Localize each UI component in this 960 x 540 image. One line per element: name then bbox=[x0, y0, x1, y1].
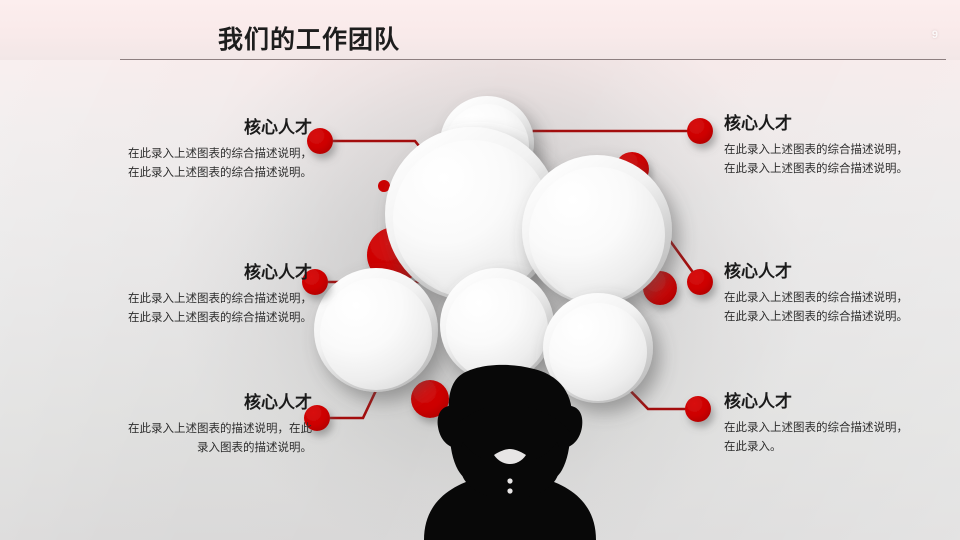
callout-right-middle[interactable]: 核心人才 在此录入上述图表的综合描述说明，在此录入上述图表的综合描述说明。 bbox=[724, 262, 936, 327]
white-circle-lower-left bbox=[314, 268, 438, 392]
slide-canvas: 我们的工作团队 9 bbox=[0, 0, 960, 540]
callout-body: 在此录入上述图表的综合描述说明，在此录入上述图表的综合描述说明。 bbox=[724, 141, 914, 178]
callout-heading: 核心人才 bbox=[100, 118, 312, 138]
callout-body: 在此录入上述图表的描述说明，在此录入图表的描述说明。 bbox=[122, 420, 312, 457]
callout-heading: 核心人才 bbox=[724, 262, 936, 282]
callout-body: 在此录入上述图表的综合描述说明，在此录入上述图表的综合描述说明。 bbox=[122, 145, 312, 182]
callout-body: 在此录入上述图表的综合描述说明，在此录入。 bbox=[724, 419, 914, 456]
red-accent-dot-small-1 bbox=[378, 180, 390, 192]
callout-left-top[interactable]: 核心人才 在此录入上述图表的综合描述说明，在此录入上述图表的综合描述说明。 bbox=[100, 118, 312, 183]
connector-dot-right-middle bbox=[687, 269, 713, 295]
white-circle-right bbox=[522, 155, 672, 305]
callout-left-middle[interactable]: 核心人才 在此录入上述图表的综合描述说明，在此录入上述图表的综合描述说明。 bbox=[100, 263, 312, 328]
callout-body: 在此录入上述图表的综合描述说明，在此录入上述图表的综合描述说明。 bbox=[122, 290, 312, 327]
callout-heading: 核心人才 bbox=[100, 393, 312, 413]
callout-right-bottom[interactable]: 核心人才 在此录入上述图表的综合描述说明，在此录入。 bbox=[724, 392, 936, 457]
connector-dot-right-top bbox=[687, 118, 713, 144]
callout-left-bottom[interactable]: 核心人才 在此录入上述图表的描述说明，在此录入图表的描述说明。 bbox=[100, 393, 312, 458]
callout-right-top[interactable]: 核心人才 在此录入上述图表的综合描述说明，在此录入上述图表的综合描述说明。 bbox=[724, 114, 936, 179]
white-circle-lower-center bbox=[440, 268, 554, 382]
callout-body: 在此录入上述图表的综合描述说明，在此录入上述图表的综合描述说明。 bbox=[724, 289, 914, 326]
callout-heading: 核心人才 bbox=[100, 263, 312, 283]
connector-dot-right-bottom bbox=[685, 396, 711, 422]
callout-heading: 核心人才 bbox=[724, 114, 936, 134]
callout-heading: 核心人才 bbox=[724, 392, 936, 412]
